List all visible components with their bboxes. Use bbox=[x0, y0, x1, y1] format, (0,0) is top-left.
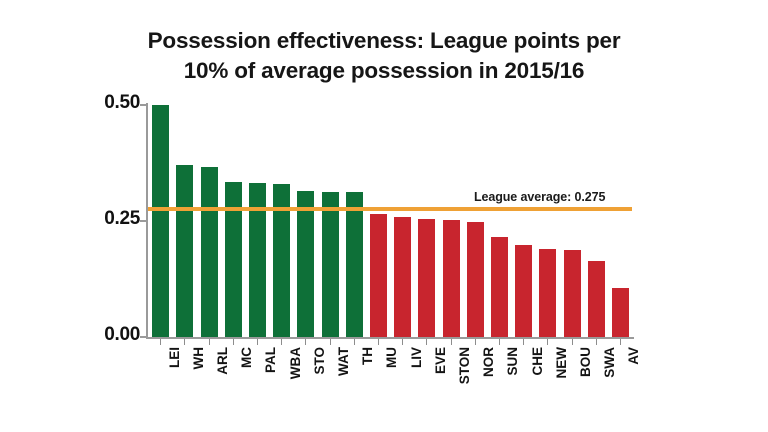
x-axis-tick-mark bbox=[378, 339, 379, 345]
x-axis-tick-mark bbox=[281, 339, 282, 345]
bar-liv bbox=[394, 217, 411, 337]
x-axis-label-bou: BOU bbox=[578, 347, 593, 377]
x-axis-label-pal: PAL bbox=[263, 347, 278, 373]
x-axis-tick-mark bbox=[620, 339, 621, 345]
x-axis-tick-mark bbox=[426, 339, 427, 345]
x-axis-tick-mark bbox=[305, 339, 306, 345]
x-axis-label-mu: MU bbox=[384, 347, 399, 368]
x-axis-label-av: AV bbox=[626, 347, 641, 365]
x-axis-label-sto: STO bbox=[312, 347, 327, 375]
x-axis-tick-mark bbox=[402, 339, 403, 345]
bar-th bbox=[346, 192, 363, 337]
bar-mc bbox=[225, 182, 242, 337]
bar-sto bbox=[297, 191, 314, 337]
x-axis-label-swa: SWA bbox=[602, 347, 617, 378]
bar-wat bbox=[322, 192, 339, 337]
x-axis-tick-mark bbox=[596, 339, 597, 345]
x-axis-label-che: CHE bbox=[530, 347, 545, 376]
y-axis-tick-mark bbox=[140, 220, 147, 222]
x-axis-tick-mark bbox=[160, 339, 161, 345]
bar-eve bbox=[418, 219, 435, 337]
bar-pal bbox=[249, 183, 266, 337]
bar-av bbox=[612, 288, 629, 337]
x-axis-tick-mark bbox=[475, 339, 476, 345]
x-axis-label-arl: ARL bbox=[215, 347, 230, 375]
x-axis-label-wba: WBA bbox=[288, 347, 303, 379]
league-average-label: League average: 0.275 bbox=[474, 190, 605, 204]
x-axis-label-lei: LEI bbox=[167, 347, 182, 368]
bar-new bbox=[539, 249, 556, 337]
bar-ston bbox=[443, 220, 460, 337]
x-axis-label-liv: LIV bbox=[409, 347, 424, 368]
x-axis-label-eve: EVE bbox=[433, 347, 448, 374]
x-axis-tick-mark bbox=[184, 339, 185, 345]
x-axis-label-sun: SUN bbox=[505, 347, 520, 376]
x-axis-tick-mark bbox=[451, 339, 452, 345]
bar-mu bbox=[370, 214, 387, 337]
x-axis-tick-mark bbox=[233, 339, 234, 345]
bar-bou bbox=[564, 250, 581, 337]
x-axis-tick-mark bbox=[330, 339, 331, 345]
x-axis-label-wh: WH bbox=[191, 347, 206, 370]
x-axis-label-ston: STON bbox=[457, 347, 472, 384]
x-axis-tick-mark bbox=[209, 339, 210, 345]
bar-arl bbox=[201, 167, 218, 337]
bar-swa bbox=[588, 261, 605, 337]
x-axis-label-wat: WAT bbox=[336, 347, 351, 376]
x-axis-tick-mark bbox=[547, 339, 548, 345]
bar-che bbox=[515, 245, 532, 337]
bar-sun bbox=[491, 237, 508, 337]
y-axis-tick-mark bbox=[140, 104, 147, 106]
bar-wh bbox=[176, 165, 193, 337]
x-axis-tick-mark bbox=[257, 339, 258, 345]
bar-nor bbox=[467, 222, 484, 337]
x-axis-tick-mark bbox=[523, 339, 524, 345]
x-axis-tick-mark bbox=[572, 339, 573, 345]
bar-lei bbox=[152, 105, 169, 337]
league-average-line bbox=[148, 207, 632, 211]
x-axis-label-new: NEW bbox=[554, 347, 569, 379]
x-axis-label-th: TH bbox=[360, 347, 375, 365]
x-axis-label-mc: MC bbox=[239, 347, 254, 368]
possession-effectiveness-bar-chart: Possession effectiveness: League points … bbox=[0, 0, 768, 432]
y-axis-tick-mark bbox=[140, 336, 147, 338]
x-axis-label-nor: NOR bbox=[481, 347, 496, 377]
x-axis-tick-mark bbox=[354, 339, 355, 345]
x-axis-tick-mark bbox=[499, 339, 500, 345]
